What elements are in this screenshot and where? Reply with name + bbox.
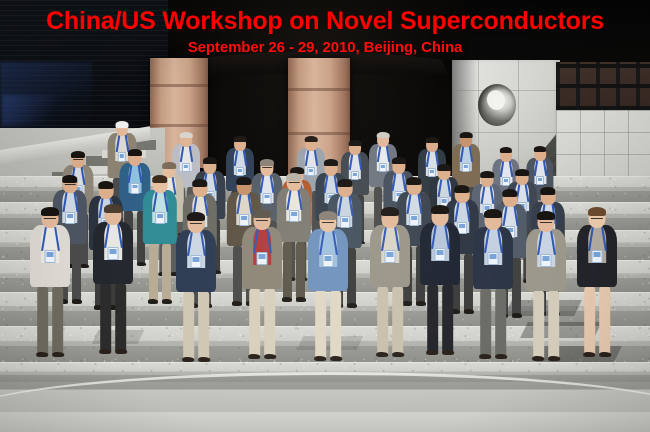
name-badge [435, 248, 446, 261]
attendee-hair [187, 212, 205, 221]
attendee-hair [392, 157, 406, 164]
attendee-shoe [495, 354, 507, 359]
attendee-hair [104, 204, 122, 213]
attendee-hair [377, 132, 390, 138]
attendee-hair [515, 169, 529, 176]
attendee-shoe [548, 356, 560, 361]
name-badge [45, 250, 56, 263]
name-badge [541, 254, 552, 267]
attendee-legs [315, 290, 341, 360]
attendee-hair [454, 185, 469, 193]
attendee-hair [62, 175, 77, 183]
name-badge [191, 255, 202, 268]
conference-group-photo: China/US Workshop on Novel Superconducto… [0, 0, 650, 432]
attendee-shoe [148, 299, 158, 303]
name-badge [323, 254, 334, 267]
attendee-legs [37, 286, 63, 356]
attendee-shoe [182, 357, 194, 362]
eyeglasses-icon [44, 218, 56, 219]
attendee-shoe [162, 299, 172, 303]
attendee-legs [584, 286, 610, 356]
attendee-legs [249, 288, 275, 358]
attendee-shoe [330, 356, 342, 361]
attendee-shoe [232, 301, 242, 305]
eyeglasses-icon [591, 218, 603, 219]
attendee-hair [180, 132, 193, 138]
attendee-hair [152, 175, 167, 183]
attendee-hair [128, 149, 142, 156]
name-badge [65, 212, 75, 223]
attendee-hair [324, 159, 338, 166]
attendee-hair [236, 177, 251, 185]
attendee-hair [192, 179, 207, 187]
attendee-shoe [376, 352, 388, 357]
attendee-shoe [99, 349, 111, 354]
attendee-shoe [296, 297, 306, 301]
name-badge [289, 210, 299, 221]
name-badge [182, 163, 190, 173]
name-badge [536, 176, 544, 185]
name-badge [236, 167, 244, 177]
attendee-shoe [347, 303, 357, 307]
name-badge [351, 171, 359, 181]
name-badge [462, 163, 470, 173]
attendee-legs [183, 291, 209, 361]
attendee-legs [533, 290, 559, 360]
name-badge [239, 214, 249, 225]
attendee-legs [377, 286, 403, 356]
attendee-shoe [314, 356, 326, 361]
attendee-hair [480, 171, 494, 178]
eyeglasses-icon [65, 184, 76, 185]
attendee-legs [480, 288, 506, 358]
name-badge [592, 250, 603, 263]
attendee-shoe [426, 350, 438, 355]
attendee-hair [305, 136, 318, 142]
name-badge [155, 212, 165, 223]
workshop-date-location: September 26 - 29, 2010, Beijing, China [0, 39, 650, 56]
attendee-hair [381, 207, 399, 216]
name-badge [428, 168, 436, 178]
attendee-shoe [599, 352, 611, 357]
workshop-title: China/US Workshop on Novel Superconducto… [0, 8, 650, 34]
attendee-hair [500, 147, 512, 153]
attendee-shoe [248, 354, 260, 359]
name-badge [108, 247, 119, 260]
attendee-shoe [442, 350, 454, 355]
attendee-shoe [532, 356, 544, 361]
attendee-shoe [137, 262, 146, 266]
attendee-hair [426, 137, 439, 143]
attendee-shoe [36, 352, 48, 357]
attendee-shoe [52, 352, 64, 357]
attendee-hair [540, 187, 555, 195]
attendee-hair [286, 173, 301, 181]
attendee-hair [349, 140, 362, 146]
photo-caption-overlay: China/US Workshop on Novel Superconducto… [0, 8, 650, 56]
name-badge [379, 163, 387, 173]
attendee-shoe [72, 299, 82, 303]
attendee-hair [319, 211, 337, 220]
attendee-hair [41, 207, 59, 216]
attendee-hair [71, 151, 85, 158]
name-badge [409, 214, 419, 225]
eyeglasses-icon [262, 167, 272, 168]
attendee-shoe [512, 313, 522, 317]
attendee-shoe [392, 352, 404, 357]
name-badge [262, 193, 271, 204]
eyeglasses-icon [322, 222, 334, 223]
attendee-shoe [402, 301, 412, 305]
attendee-hair [98, 181, 113, 189]
name-badge [340, 216, 350, 227]
attendee-legs [283, 241, 305, 301]
attendee-shoe [282, 297, 292, 301]
attendee-hair [460, 132, 473, 138]
name-badge [385, 250, 396, 263]
eyeglasses-icon [540, 222, 552, 223]
attendee-shoe [115, 349, 127, 354]
attendee-legs [149, 243, 171, 303]
attendee-hair [534, 146, 546, 152]
attendee-hair [337, 179, 352, 187]
attendee-hair [484, 209, 502, 218]
attendee-hair [431, 205, 449, 214]
name-badge [257, 252, 268, 265]
attendee-hair [437, 164, 451, 171]
name-badge [307, 167, 315, 177]
attendee-hair [253, 209, 271, 218]
eyeglasses-icon [289, 182, 300, 183]
attendee-hair [203, 157, 217, 164]
attendee-shoe [583, 352, 595, 357]
attendee-hair [234, 136, 247, 142]
attendee-hair [162, 162, 176, 169]
attendee-shoe [264, 354, 276, 359]
conference-attendees [0, 0, 650, 432]
eyeglasses-icon [256, 220, 268, 221]
attendee-hair [116, 121, 129, 128]
attendee-shoe [479, 354, 491, 359]
name-badge [118, 152, 126, 162]
attendee-hair [588, 207, 606, 216]
attendee-hair [502, 189, 517, 197]
eyeglasses-icon [73, 159, 83, 160]
attendee-shoe [464, 309, 474, 313]
attendee-legs [100, 283, 126, 353]
attendee-hair [537, 211, 555, 220]
attendee-hair [406, 177, 421, 185]
attendee-shoe [80, 264, 89, 268]
eyeglasses-icon [190, 223, 202, 224]
attendee-hair [260, 159, 274, 166]
name-badge [488, 252, 499, 265]
attendee-shoe [198, 357, 210, 362]
attendee-legs [427, 284, 453, 354]
name-badge [130, 183, 139, 194]
attendee-shoe [416, 301, 426, 305]
